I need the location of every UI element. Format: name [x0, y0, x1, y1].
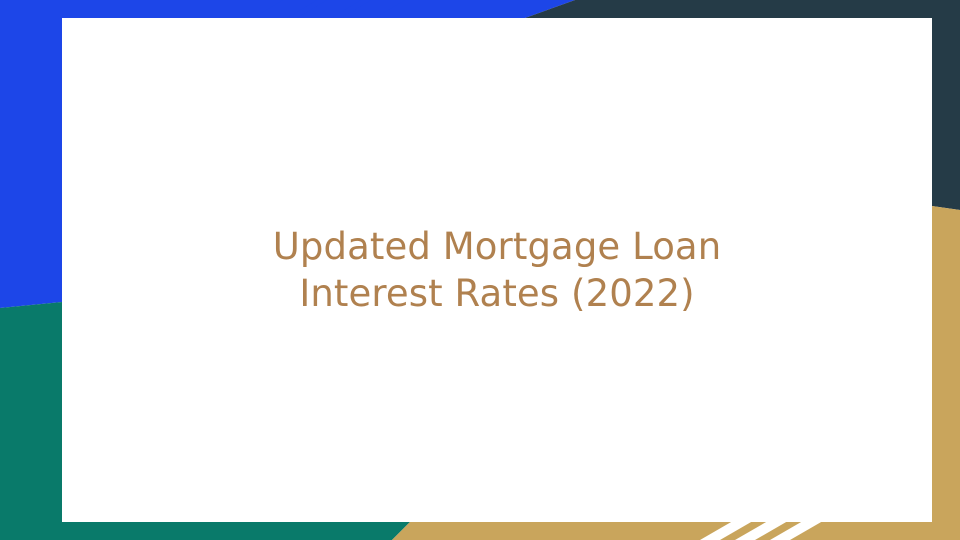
page-title: Updated Mortgage Loan Interest Rates (20…	[273, 223, 722, 318]
title-block: Updated Mortgage Loan Interest Rates (20…	[62, 18, 932, 522]
presentation-slide: Updated Mortgage Loan Interest Rates (20…	[0, 0, 960, 540]
